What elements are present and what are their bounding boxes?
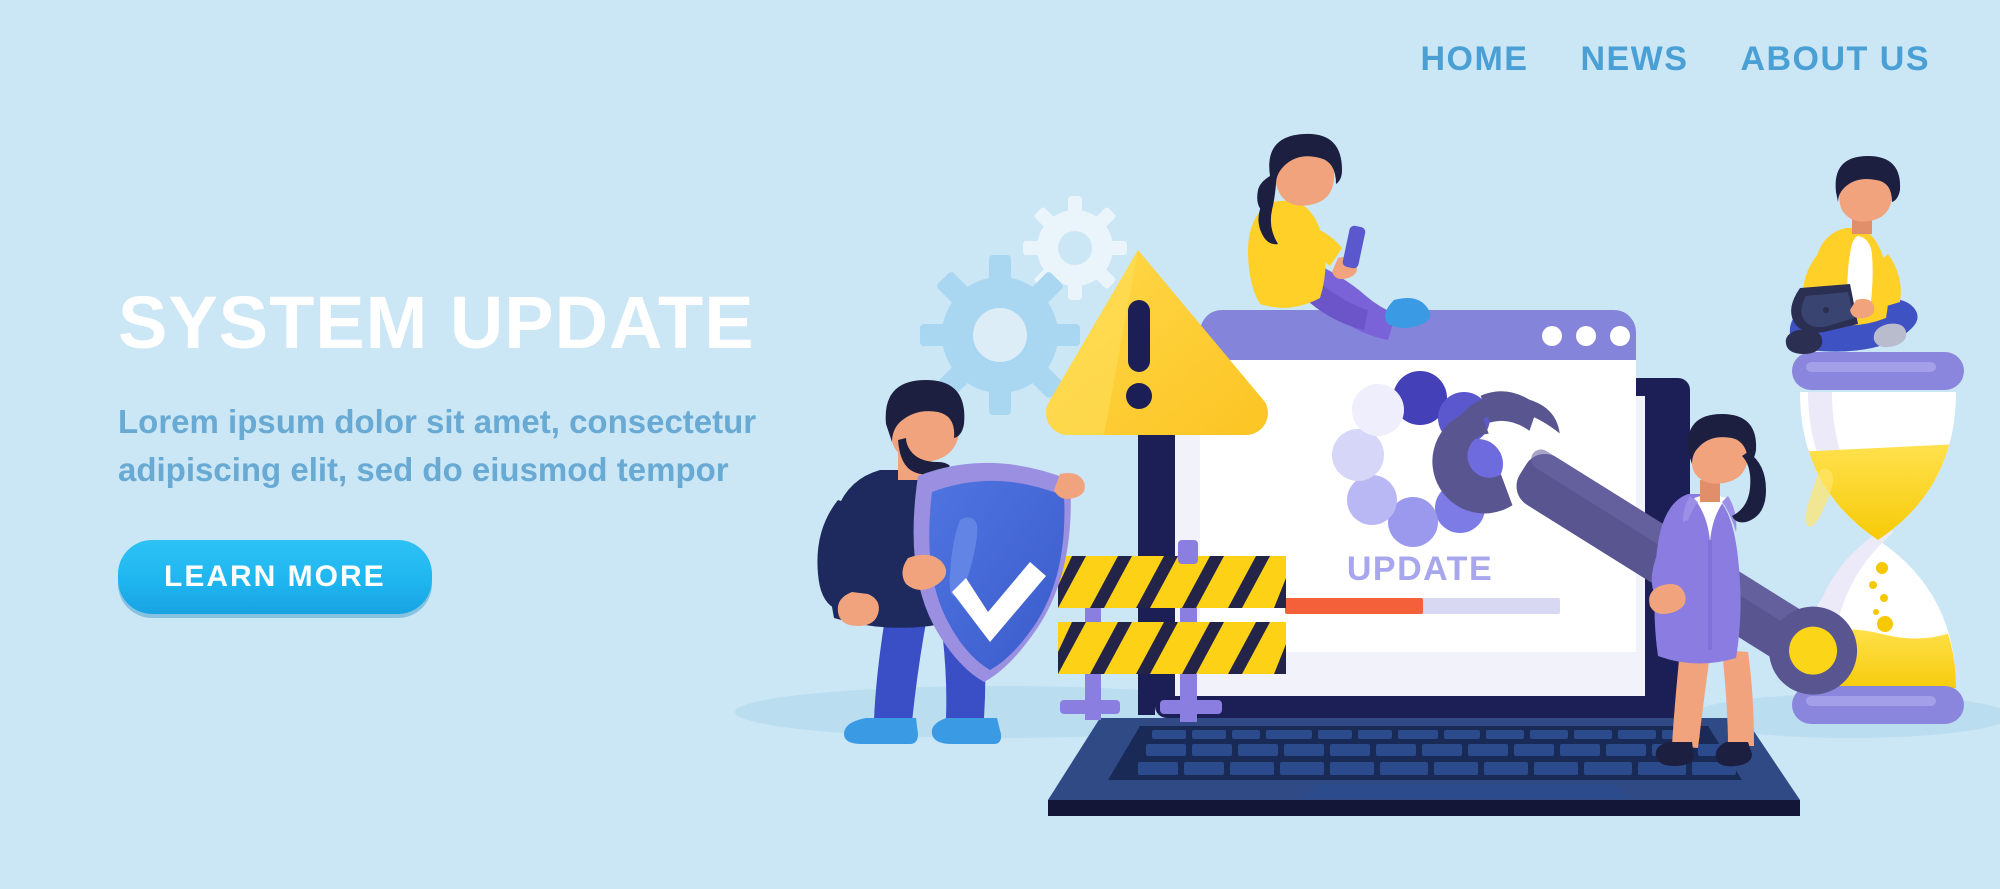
character-man-on-hourglass (1786, 156, 1918, 354)
hero-subtext: Lorem ipsum dolor sit amet, consectetur … (118, 398, 798, 494)
laptop-trackpad (1300, 784, 1632, 798)
banner-root: UPDATE (0, 0, 2000, 889)
character-woman-on-window (1248, 134, 1430, 340)
hero-copy: SYSTEM UPDATE Lorem ipsum dolor sit amet… (118, 285, 878, 614)
page-title: SYSTEM UPDATE (118, 285, 878, 360)
update-status-label: UPDATE (1347, 550, 1493, 588)
main-navigation: HOME NEWS ABOUT US (1420, 40, 1930, 79)
hero-subtext-line-2: adipiscing elit, sed do eiusmod tempor (118, 451, 729, 488)
window-control-dots (1542, 326, 1630, 346)
progress-fill (1285, 598, 1423, 614)
learn-more-button[interactable]: LEARN MORE (118, 540, 432, 614)
nav-about-us[interactable]: ABOUT US (1740, 40, 1930, 79)
hero-subtext-line-1: Lorem ipsum dolor sit amet, consectetur (118, 403, 756, 440)
nav-news[interactable]: NEWS (1580, 40, 1688, 79)
update-progress-bar (1285, 598, 1560, 614)
nav-home[interactable]: HOME (1420, 40, 1528, 79)
